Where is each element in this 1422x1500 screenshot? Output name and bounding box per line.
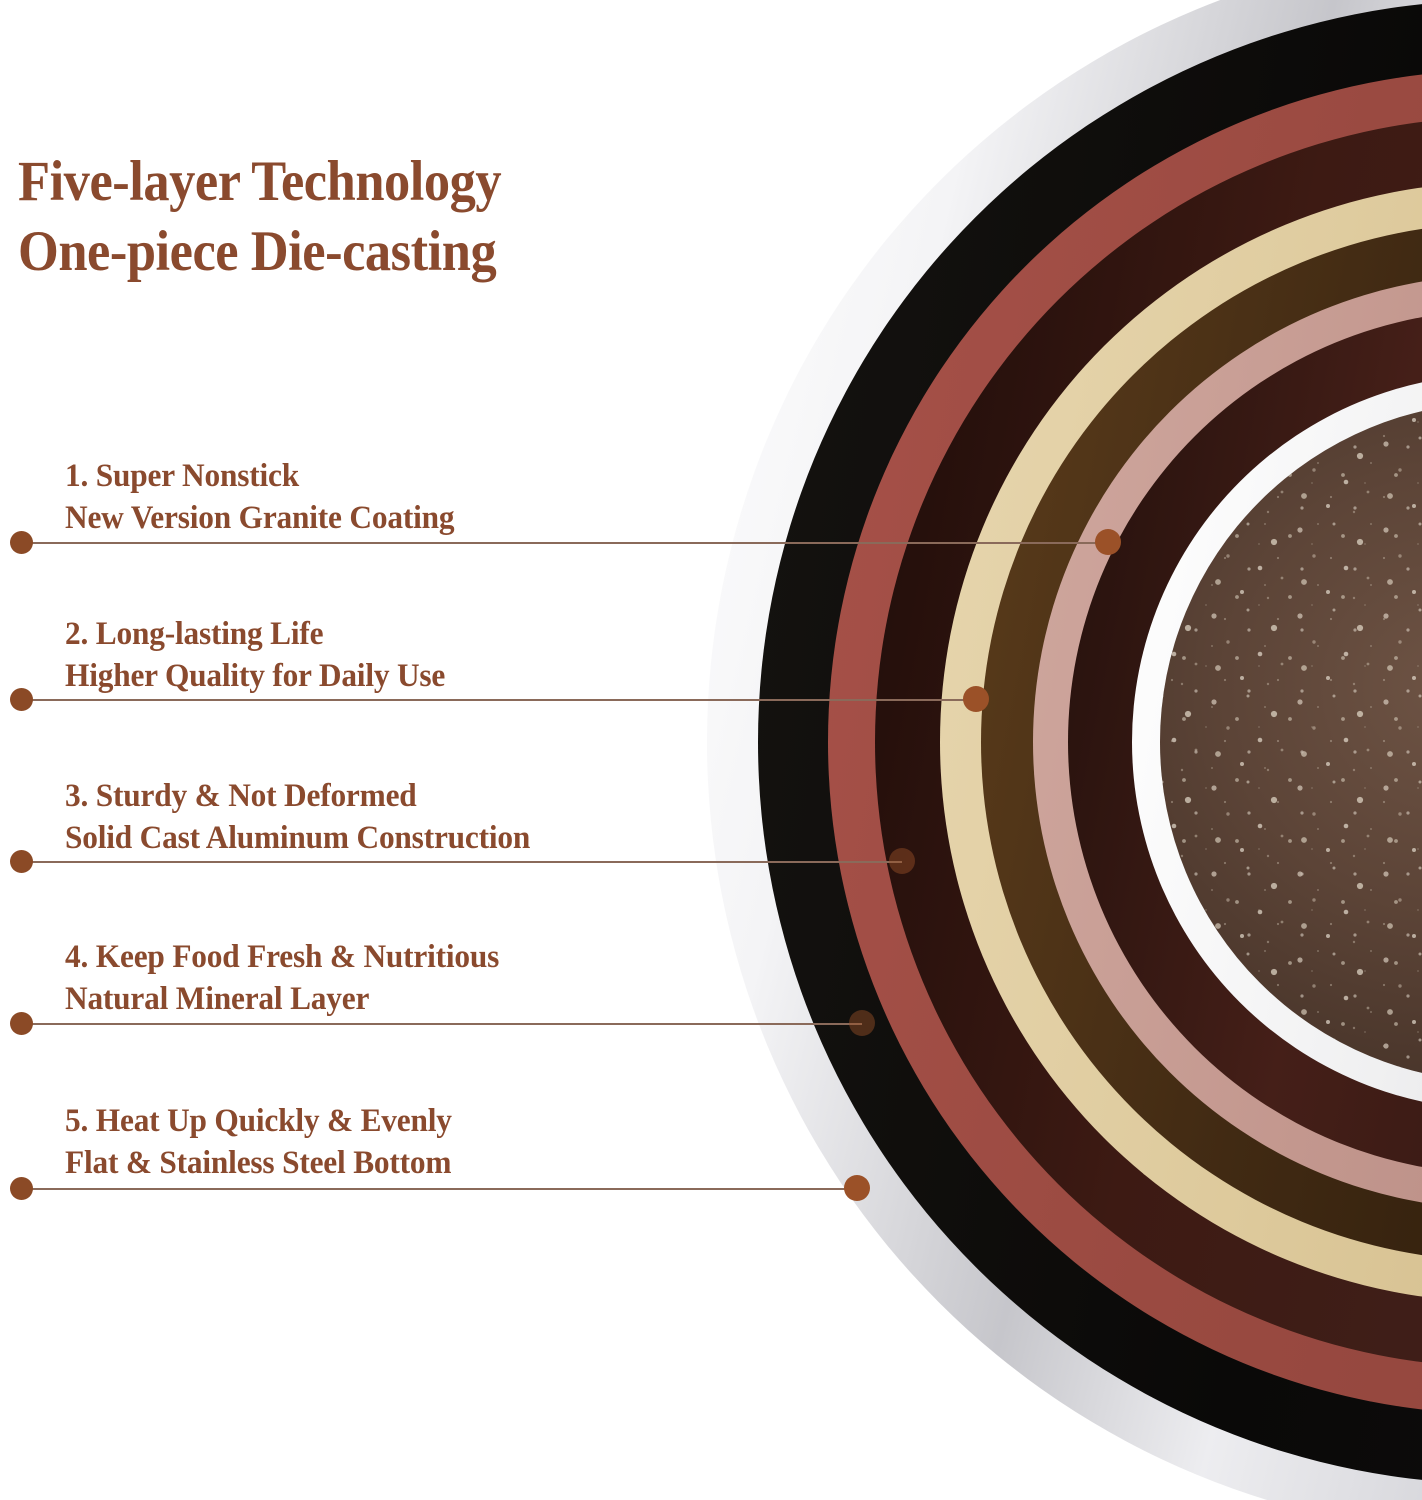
callout-text-3: 3. Sturdy & Not Deformed Solid Cast Alum…: [65, 775, 530, 859]
callout-endpoint-dot-2: [963, 686, 989, 712]
leader-line-2: [22, 699, 976, 701]
callout-text-5: 5. Heat Up Quickly & Evenly Flat & Stain…: [65, 1100, 452, 1184]
callout-endpoint-dot-5: [844, 1175, 870, 1201]
callout-endpoint-dot-4: [849, 1010, 875, 1036]
callout-subtitle-1: New Version Granite Coating: [65, 497, 454, 539]
callout-title-1: 1. Super Nonstick: [65, 455, 454, 497]
callout-title-2: 2. Long-lasting Life: [65, 613, 445, 655]
leader-line-4: [22, 1023, 862, 1025]
bullet-dot-5: [10, 1177, 33, 1200]
callout-text-4: 4. Keep Food Fresh & Nutritious Natural …: [65, 936, 499, 1020]
callout-text-1: 1. Super Nonstick New Version Granite Co…: [65, 455, 454, 539]
callout-text-2: 2. Long-lasting Life Higher Quality for …: [65, 613, 445, 697]
leader-line-1: [22, 542, 1108, 544]
bullet-dot-2: [10, 688, 33, 711]
page-title: Five-layer Technology One-piece Die-cast…: [18, 147, 718, 287]
bullet-dot-3: [10, 850, 33, 873]
callout-endpoint-dot-1: [1095, 529, 1121, 555]
callout-subtitle-5: Flat & Stainless Steel Bottom: [65, 1142, 452, 1184]
callout-title-4: 4. Keep Food Fresh & Nutritious: [65, 936, 499, 978]
callout-title-3: 3. Sturdy & Not Deformed: [65, 775, 530, 817]
callout-subtitle-3: Solid Cast Aluminum Construction: [65, 817, 530, 859]
bullet-dot-1: [10, 531, 33, 554]
infographic-canvas: Five-layer Technology One-piece Die-cast…: [0, 0, 1422, 1500]
bullet-dot-4: [10, 1012, 33, 1035]
leader-line-3: [22, 861, 902, 863]
headline-line-1: Five-layer Technology: [18, 147, 662, 217]
callout-title-5: 5. Heat Up Quickly & Evenly: [65, 1100, 452, 1142]
leader-line-5: [22, 1188, 857, 1190]
callout-endpoint-dot-3: [889, 848, 915, 874]
headline-line-2: One-piece Die-casting: [18, 217, 662, 287]
callout-subtitle-4: Natural Mineral Layer: [65, 978, 499, 1020]
callout-subtitle-2: Higher Quality for Daily Use: [65, 655, 445, 697]
pan-layer-stack: [707, 0, 1422, 1500]
